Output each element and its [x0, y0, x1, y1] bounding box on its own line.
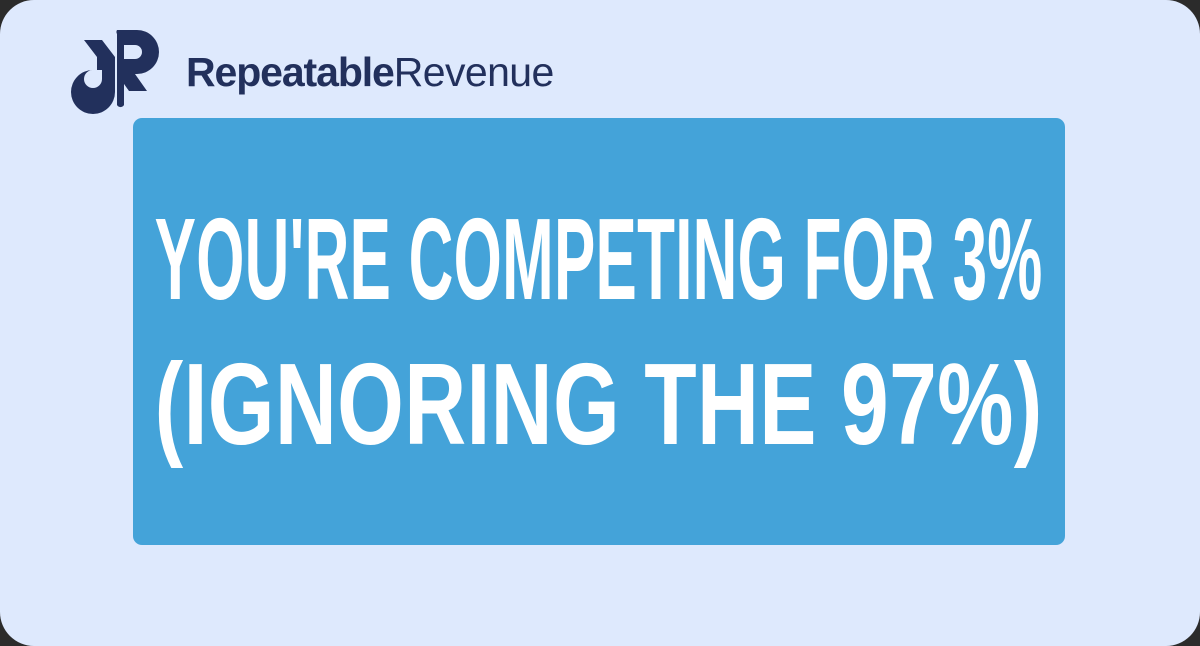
brand-wordmark: RepeatableRevenue: [186, 52, 554, 93]
brand-wordmark-strong: Repeatable: [186, 52, 394, 93]
repeatable-revenue-monogram-icon: [68, 26, 164, 114]
brand-wordmark-light: Revenue: [394, 52, 554, 93]
quote-panel: YOU'RE COMPETING FOR 3% (IGNORING THE 97…: [133, 118, 1065, 545]
quote-line-2: (IGNORING THE 97%): [155, 336, 1043, 473]
quote-line-1: YOU'RE COMPETING FOR 3%: [155, 191, 1043, 328]
brand-header: RepeatableRevenue: [68, 24, 554, 116]
quote-card-root: RepeatableRevenue YOU'RE COMPETING FOR 3…: [0, 0, 1200, 646]
